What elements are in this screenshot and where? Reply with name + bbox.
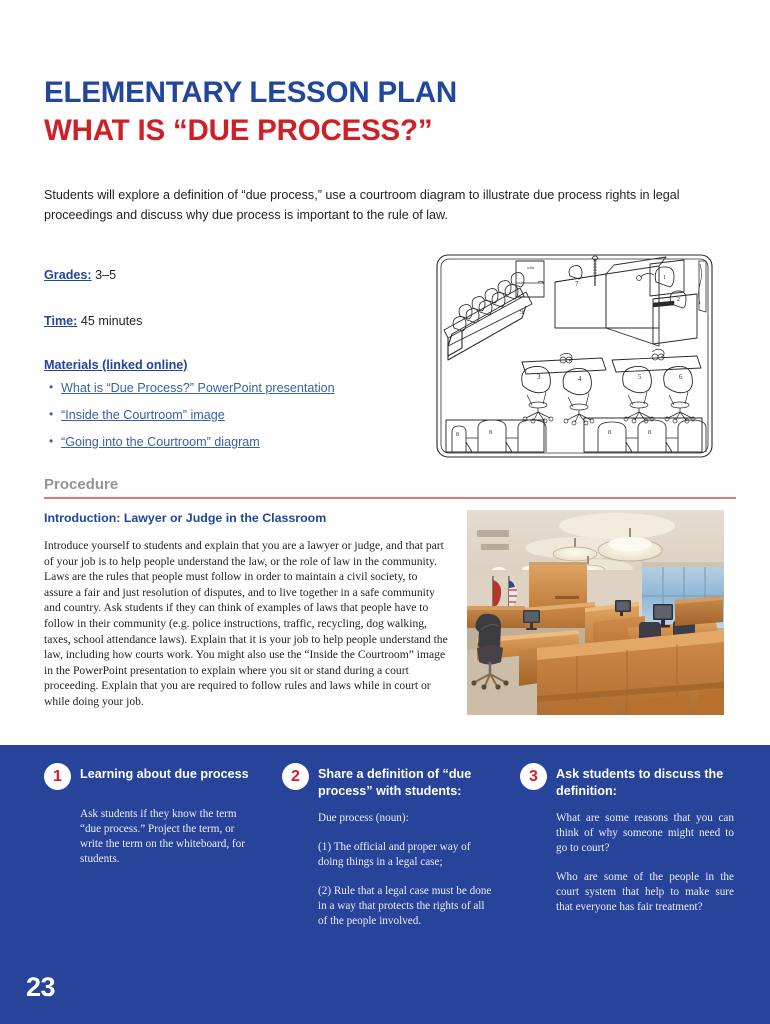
svg-text:9: 9	[520, 308, 524, 316]
bullet-icon: •	[49, 379, 53, 395]
svg-text:6: 6	[679, 373, 683, 381]
intro-paragraph: Students will explore a definition of “d…	[44, 186, 736, 225]
list-item[interactable]: • “Inside the Courtroom” image	[44, 407, 424, 423]
title-line-secondary: WHAT IS “DUE PROCESS?”	[44, 112, 734, 150]
step-1: 1 Learning about due process Ask student…	[44, 762, 258, 929]
step-body: What are some reasons that you can think…	[556, 811, 734, 915]
svg-text:8: 8	[608, 430, 611, 436]
procedure-divider	[44, 497, 736, 499]
svg-text:4: 4	[578, 375, 582, 383]
svg-text:5: 5	[638, 373, 642, 381]
step-header: 3 Ask students to discuss the definition…	[520, 762, 734, 800]
procedure-body: Introduce yourself to students and expla…	[44, 538, 448, 710]
step-paragraph: Ask students if they know the term “due …	[80, 807, 258, 867]
time-row: Time: 45 minutes	[44, 312, 424, 330]
time-label: Time:	[44, 314, 77, 328]
step-number-badge: 3	[520, 763, 547, 790]
lesson-plan-page: ELEMENTARY LESSON PLAN WHAT IS “DUE PROC…	[0, 0, 770, 1024]
step-paragraph: Due process (noun):	[318, 811, 496, 826]
page-number: 23	[26, 972, 55, 1003]
svg-text:8: 8	[648, 430, 651, 436]
steps-container: 1 Learning about due process Ask student…	[44, 762, 734, 929]
svg-text:2: 2	[677, 297, 680, 303]
step-number-badge: 2	[282, 763, 309, 790]
svg-text:8: 8	[456, 432, 459, 438]
svg-text:3: 3	[537, 373, 541, 381]
material-link[interactable]: “Inside the Courtroom” image	[61, 408, 225, 422]
step-body: Due process (noun): (1) The official and…	[318, 811, 496, 929]
step-3: 3 Ask students to discuss the definition…	[520, 762, 734, 929]
grades-value: 3–5	[92, 268, 117, 282]
material-link[interactable]: “Going into the Courtroom” diagram	[61, 435, 260, 449]
procedure-heading: Procedure	[44, 476, 736, 497]
grades-row: Grades: 3–5	[44, 266, 424, 284]
svg-text:witn: witn	[527, 265, 534, 270]
step-title: Share a definition of “due process” with…	[318, 762, 496, 800]
step-header: 2 Share a definition of “due process” wi…	[282, 762, 496, 800]
step-body: Ask students if they know the term “due …	[80, 807, 258, 867]
materials-heading: Materials (linked online)	[44, 358, 424, 372]
svg-text:1: 1	[663, 275, 666, 281]
step-header: 1 Learning about due process	[44, 762, 258, 796]
step-title: Learning about due process	[80, 762, 249, 783]
svg-text:8: 8	[489, 430, 492, 436]
courtroom-layout-diagram: 9 witn 7	[434, 252, 715, 460]
materials-list: • What is “Due Process?” PowerPoint pres…	[44, 380, 424, 450]
svg-text:7: 7	[575, 280, 579, 288]
step-paragraph: What are some reasons that you can think…	[556, 811, 734, 856]
list-item[interactable]: • What is “Due Process?” PowerPoint pres…	[44, 380, 424, 396]
step-paragraph: Who are some of the people in the court …	[556, 870, 734, 915]
bullet-icon: •	[49, 406, 53, 422]
step-number-badge: 1	[44, 763, 71, 790]
bullet-icon: •	[49, 433, 53, 449]
list-item[interactable]: • “Going into the Courtroom” diagram	[44, 434, 424, 450]
page-title: ELEMENTARY LESSON PLAN WHAT IS “DUE PROC…	[44, 74, 734, 150]
title-line-primary: ELEMENTARY LESSON PLAN	[44, 74, 734, 112]
step-title: Ask students to discuss the definition:	[556, 762, 734, 800]
courtroom-photo	[467, 510, 724, 715]
step-paragraph: (2) Rule that a legal case must be done …	[318, 884, 496, 929]
procedure-subheading: Introduction: Lawyer or Judge in the Cla…	[44, 511, 444, 525]
time-value: 45 minutes	[77, 314, 142, 328]
step-2: 2 Share a definition of “due process” wi…	[282, 762, 496, 929]
grades-label: Grades:	[44, 268, 92, 282]
step-paragraph: (1) The official and proper way of doing…	[318, 840, 496, 870]
lesson-meta: Grades: 3–5 Time: 45 minutes Materials (…	[44, 266, 424, 461]
material-link[interactable]: What is “Due Process?” PowerPoint presen…	[61, 381, 335, 395]
